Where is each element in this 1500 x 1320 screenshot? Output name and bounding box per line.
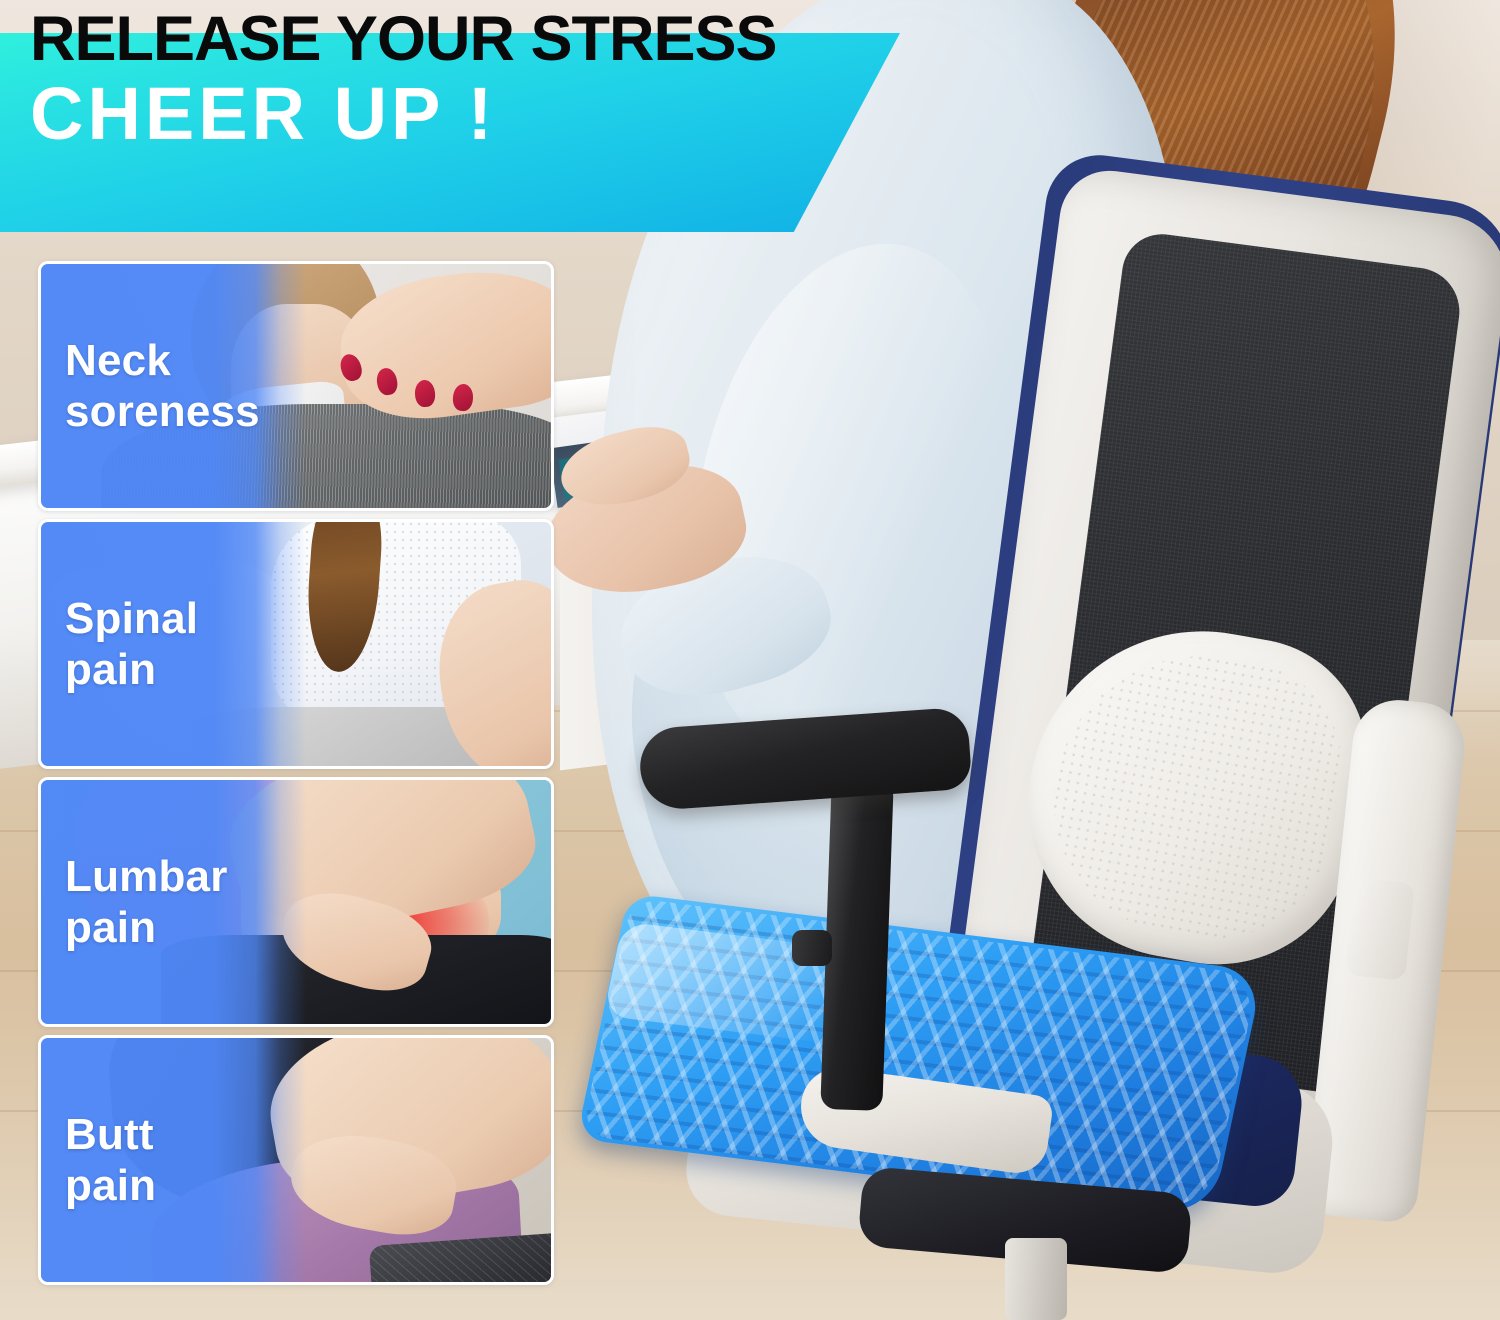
pain-point-panel-lumbar: Lumbar pain (38, 777, 554, 1027)
chair-armrest-knob (792, 930, 832, 966)
pain-point-label-spinal: Spinal pain (65, 593, 198, 695)
headline-line-2: CHEER UP ! (30, 77, 900, 151)
pain-point-label-butt: Butt pain (65, 1109, 156, 1211)
pain-point-label-lumbar: Lumbar pain (65, 851, 228, 953)
headline-banner-text: RELEASE YOUR STRESS CHEER UP ! (0, 0, 900, 199)
pain-point-panel-neck: Neck soreness (38, 261, 554, 511)
pain-point-panel-butt: Butt pain (38, 1035, 554, 1285)
pain-point-panel-spinal: Spinal pain (38, 519, 554, 769)
product-infographic: RELEASE YOUR STRESS CHEER UP ! Neck sore… (0, 0, 1500, 1320)
chair-gas-cylinder (1005, 1238, 1067, 1320)
pain-point-label-neck: Neck soreness (65, 335, 260, 437)
chair-adjust-knob (1345, 877, 1415, 981)
headline-line-1: RELEASE YOUR STRESS (30, 8, 900, 71)
pain-point-panel-grid: Neck soreness Spinal pain (38, 261, 554, 1285)
